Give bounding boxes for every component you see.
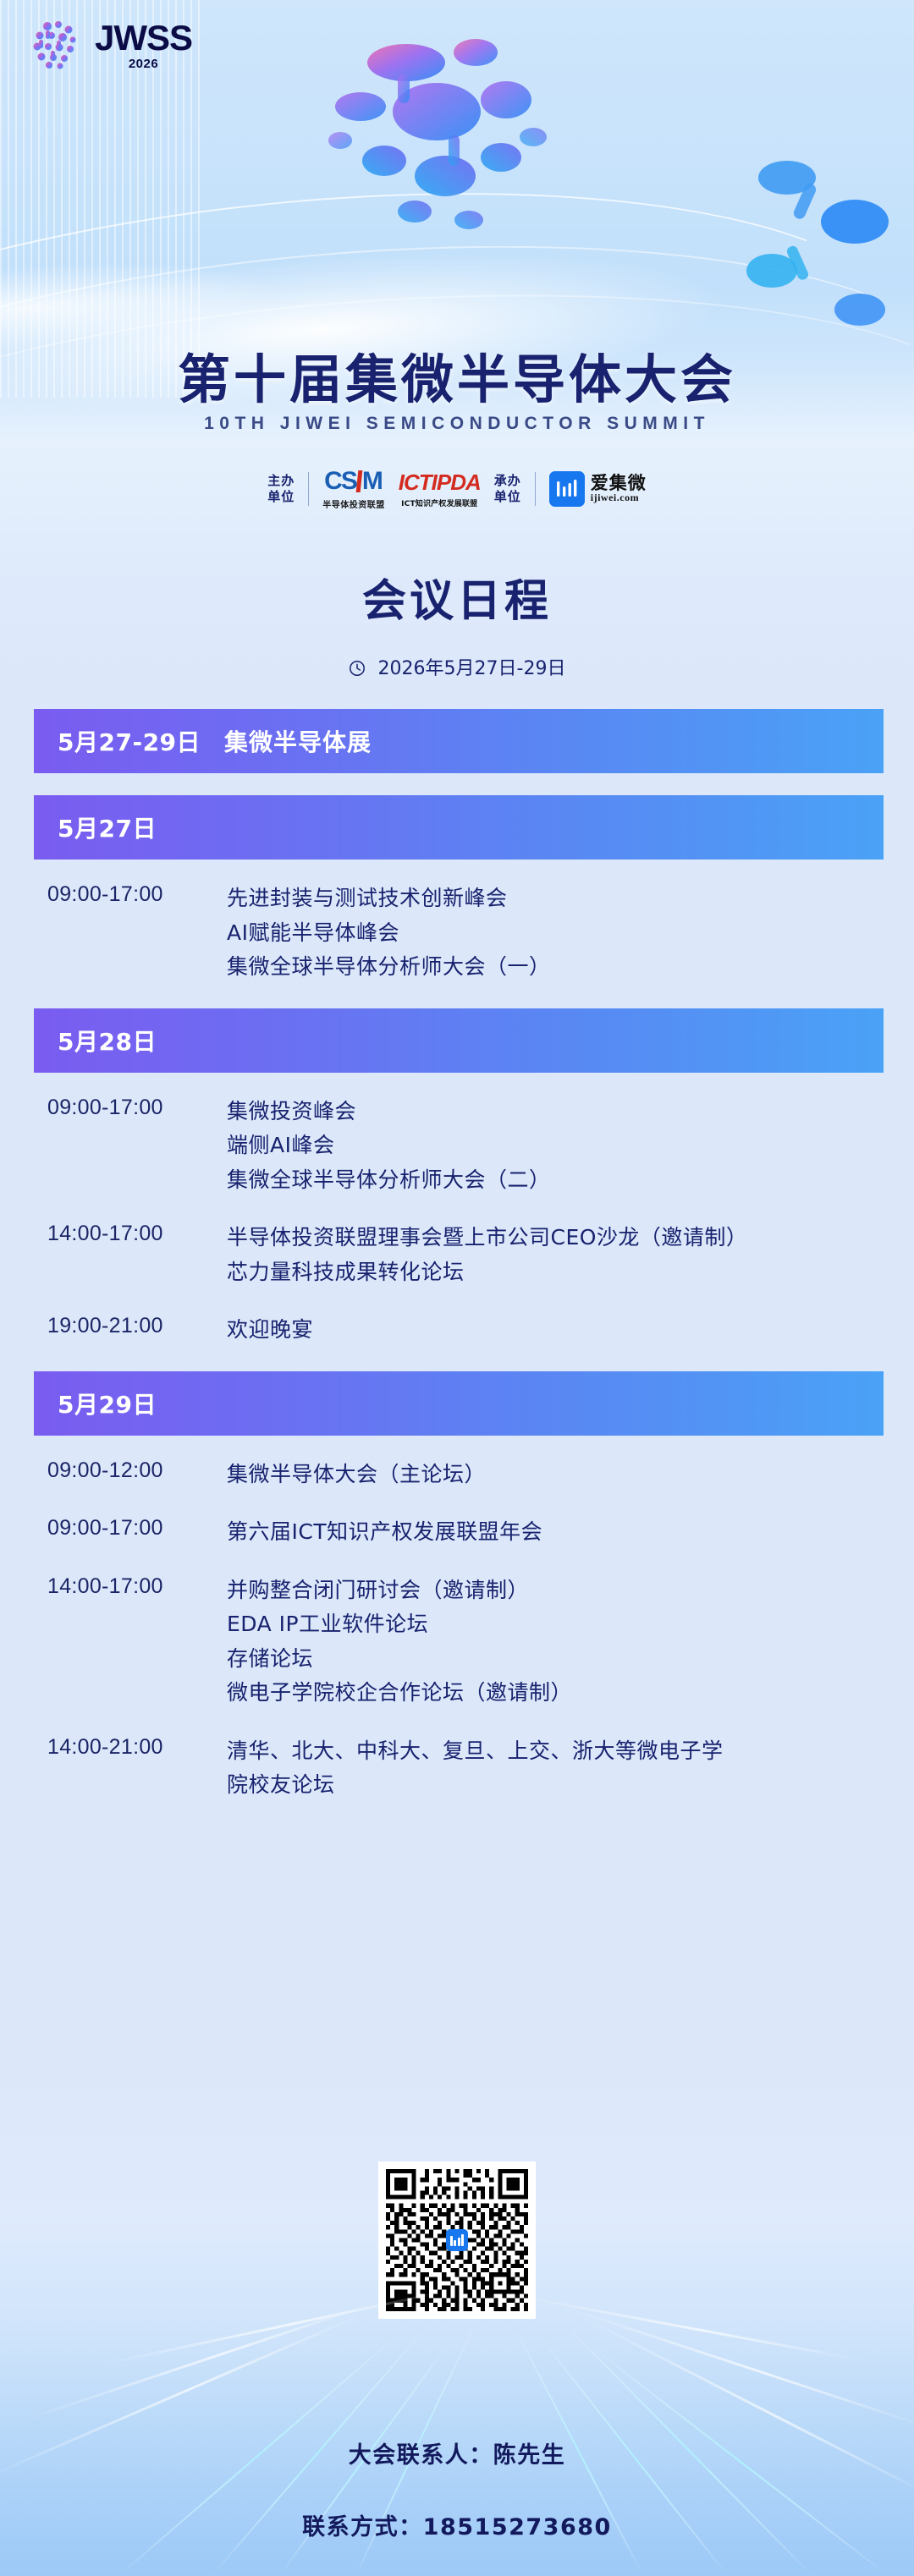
day-header-0528: 5月28日: [34, 1008, 884, 1073]
session-row: 14:00-17:00 并购整合闭门研讨会（邀请制） EDA IP工业软件论坛 …: [47, 1574, 880, 1711]
ictipda-caption: ICT知识产权发展联盟: [401, 497, 477, 508]
organizer-label-line1: 承办: [494, 473, 521, 488]
session-item: 第六届ICT知识产权发展联盟年会: [227, 1515, 880, 1550]
session-item: 清华、北大、中科大、复旦、上交、浙大等微电子学院校友论坛: [227, 1734, 735, 1803]
session-item: 集微投资峰会: [227, 1095, 880, 1129]
session-item: EDA IP工业软件论坛: [227, 1607, 880, 1642]
csia-mark: CSM: [324, 467, 383, 496]
session-row: 09:00-17:00 先进封装与测试技术创新峰会 AI赋能半导体峰会 集微全球…: [47, 882, 880, 985]
session-items: 第六届ICT知识产权发展联盟年会: [227, 1515, 880, 1550]
page-title: 第十届集微半导体大会: [0, 337, 914, 413]
session-row: 14:00-17:00 半导体投资联盟理事会暨上市公司CEO沙龙（邀请制） 芯力…: [47, 1221, 880, 1289]
ijiwei-mark: 爱集微: [591, 474, 647, 492]
qr-section: [0, 2161, 914, 2319]
session-items: 集微投资峰会 端侧AI峰会 集微全球半导体分析师大会（二）: [227, 1095, 880, 1198]
session-row: 09:00-17:00 集微投资峰会 端侧AI峰会 集微全球半导体分析师大会（二…: [47, 1095, 880, 1198]
session-items: 并购整合闭门研讨会（邀请制） EDA IP工业软件论坛 存储论坛 微电子学院校企…: [227, 1574, 880, 1711]
jwss-molecule-icon: [30, 19, 83, 71]
ijiwei-logo: 爱集微 ijiwei.com: [549, 471, 647, 507]
page-subtitle: 10TH JIWEI SEMICONDUCTOR SUMMIT: [0, 414, 914, 434]
day-date: 5月27日: [58, 810, 157, 844]
poster-root: JWSS 2026 第十届集微半导体大会 10TH JIWEI SEMICOND…: [0, 0, 914, 2576]
csia-logo: CSM 半导体投资联盟: [322, 467, 385, 510]
session-item: 欢迎晚宴: [227, 1313, 880, 1348]
schedule: 5月27-29日 集微半导体展 5月27日 09:00-17:00 先进封装与测…: [0, 709, 914, 1826]
contact-person: 大会联系人：陈先生: [0, 2436, 914, 2469]
session-row: 14:00-21:00 清华、北大、中科大、复旦、上交、浙大等微电子学院校友论坛: [47, 1734, 880, 1803]
day-date: 5月27-29日: [58, 724, 201, 758]
day-block-0528: 09:00-17:00 集微投资峰会 端侧AI峰会 集微全球半导体分析师大会（二…: [0, 1095, 914, 1348]
host-label-line1: 主办: [267, 473, 295, 488]
host-label: 主办 单位: [267, 473, 295, 504]
day-block-0529: 09:00-12:00 集微半导体大会（主论坛） 09:00-17:00 第六届…: [0, 1458, 914, 1803]
session-item: 微电子学院校企合作论坛（邀请制）: [227, 1676, 880, 1711]
session-row: 09:00-17:00 第六届ICT知识产权发展联盟年会: [47, 1515, 880, 1550]
session-item: 集微全球半导体分析师大会（二）: [227, 1163, 880, 1198]
session-time: 14:00-17:00: [47, 1221, 227, 1246]
session-time: 09:00-17:00: [47, 1515, 227, 1541]
brand-year: 2026: [129, 58, 158, 70]
organizer-label: 承办 单位: [494, 473, 521, 504]
organizer-label-line2: 单位: [494, 489, 521, 504]
session-items: 半导体投资联盟理事会暨上市公司CEO沙龙（邀请制） 芯力量科技成果转化论坛: [227, 1221, 880, 1289]
day-header-exhibition: 5月27-29日 集微半导体展: [34, 709, 884, 773]
registration-qr-code[interactable]: [378, 2161, 536, 2319]
session-item: 并购整合闭门研讨会（邀请制）: [227, 1574, 880, 1608]
session-item: 半导体投资联盟理事会暨上市公司CEO沙龙（邀请制）: [227, 1221, 880, 1255]
session-time: 14:00-17:00: [47, 1574, 227, 1599]
agenda-date: 2026年5月27日-29日: [0, 653, 914, 680]
day-note: 集微半导体展: [224, 724, 372, 758]
ictipda-logo: ICTIPDA ICT知识产权发展联盟: [399, 470, 481, 508]
agenda-date-text: 2026年5月27日-29日: [378, 658, 566, 679]
session-time: 09:00-12:00: [47, 1458, 227, 1483]
session-item: 集微全球半导体分析师大会（一）: [227, 950, 880, 985]
session-item: 端侧AI峰会: [227, 1129, 880, 1163]
host-label-line2: 单位: [267, 489, 295, 504]
session-items: 先进封装与测试技术创新峰会 AI赋能半导体峰会 集微全球半导体分析师大会（一）: [227, 882, 880, 985]
ictipda-mark: ICTIPDA: [399, 470, 481, 496]
session-row: 19:00-21:00 欢迎晚宴: [47, 1313, 880, 1348]
ijiwei-icon: [549, 471, 585, 507]
session-item: 芯力量科技成果转化论坛: [227, 1255, 880, 1290]
molecule-artwork: [279, 34, 601, 271]
session-time: 14:00-21:00: [47, 1734, 227, 1760]
brand-logo[interactable]: JWSS 2026: [30, 19, 192, 71]
ijiwei-caption: ijiwei.com: [591, 492, 647, 503]
session-item: 集微半导体大会（主论坛）: [227, 1458, 880, 1492]
sponsor-row: 主办 单位 CSM 半导体投资联盟 ICTIPDA ICT知识产权发展联盟 承办…: [0, 467, 914, 510]
divider: [535, 472, 536, 506]
session-item: 存储论坛: [227, 1642, 880, 1677]
ijiwei-icon: [446, 2229, 468, 2251]
divider: [308, 472, 309, 506]
side-molecule-artwork: [711, 144, 914, 347]
brand-name: JWSS: [95, 20, 192, 56]
session-item: 先进封装与测试技术创新峰会: [227, 882, 880, 916]
session-items: 清华、北大、中科大、复旦、上交、浙大等微电子学院校友论坛: [227, 1734, 880, 1803]
session-time: 09:00-17:00: [47, 882, 227, 907]
agenda-heading: 会议日程: [0, 565, 914, 629]
csia-caption: 半导体投资联盟: [322, 497, 385, 510]
day-block-0527: 09:00-17:00 先进封装与测试技术创新峰会 AI赋能半导体峰会 集微全球…: [0, 882, 914, 985]
day-header-0527: 5月27日: [34, 795, 884, 860]
session-items: 欢迎晚宴: [227, 1313, 880, 1348]
clock-icon: [349, 660, 366, 677]
session-time: 09:00-17:00: [47, 1095, 227, 1120]
session-item: AI赋能半导体峰会: [227, 916, 880, 951]
day-date: 5月28日: [58, 1024, 157, 1057]
contact-phone: 联系方式：18515273680: [0, 2508, 914, 2541]
session-row: 09:00-12:00 集微半导体大会（主论坛）: [47, 1458, 880, 1492]
session-time: 19:00-21:00: [47, 1313, 227, 1338]
day-date: 5月29日: [58, 1387, 157, 1420]
session-items: 集微半导体大会（主论坛）: [227, 1458, 880, 1492]
day-header-0529: 5月29日: [34, 1371, 884, 1436]
footer: 大会联系人：陈先生 联系方式：18515273680: [0, 2436, 914, 2541]
